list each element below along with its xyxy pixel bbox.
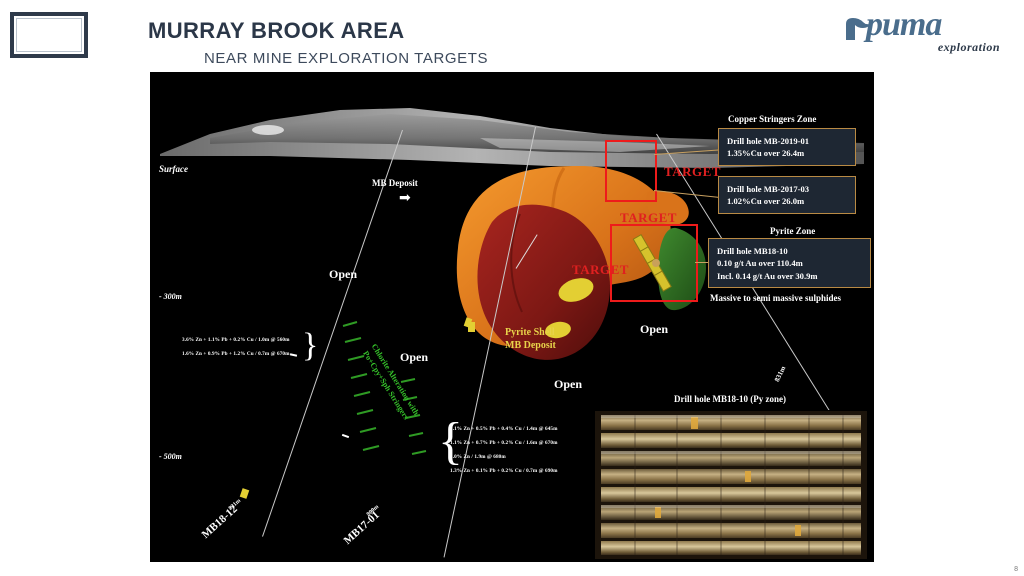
page-title: MURRAY BROOK AREA [148,18,488,44]
page-subtitle: NEAR MINE EXPLORATION TARGETS [204,50,488,67]
assay-line: 1.3% Zn + 0.1% Pb + 0.2% Cu / 0.7m @ 690… [450,468,558,474]
assay-brace-upper: } [302,327,318,365]
corner-placeholder-box [10,12,88,58]
callout-mb-2017-03: Drill hole MB-2017-03 1.02%Cu over 26.0m [718,176,856,214]
zone-label-pyrite: Pyrite Zone [770,226,815,236]
callout-mb-2019-01: Drill hole MB-2019-01 1.35%Cu over 26.4m [718,128,856,166]
open-label-4: Open [640,322,668,337]
callout-line-2: 1.35%Cu over 26.4m [727,147,847,159]
assay-block-upper: 3.6% Zn + 1.1% Pb + 0.2% Cu / 1.0m @ 560… [182,337,290,357]
open-label-2: Open [400,350,428,365]
core-photo-caption: Drill hole MB18-10 (Py zone) [594,394,866,404]
mb-deposit-label: MB Deposit [372,178,418,188]
assay-line: 1.0% Zn / 1.9m @ 680m [450,454,558,460]
pyrite-shell-sublabel: MB Deposit [505,340,556,351]
callout-line-1: Drill hole MB-2017-03 [727,183,847,195]
callout-line-1: Drill hole MB-2019-01 [727,135,847,147]
assay-line: 1.6% Zn + 0.9% Pb + 1.2% Cu / 0.7m @ 670… [182,351,290,357]
puma-logo: puma exploration [844,10,1004,58]
puma-logo-word: puma [866,6,941,44]
target-box-copper [605,140,657,202]
open-label-3: Open [554,377,582,392]
cross-section-figure: Copper Stringers Zone Drill hole MB-2019… [150,72,874,562]
drillhole-label-mb18-12: MB18-12 [200,503,240,541]
assay-line: 1.1% Zn + 0.5% Pb + 0.4% Cu / 1.4m @ 645… [450,426,558,432]
callout-line-3: Incl. 0.14 g/t Au over 30.9m [717,270,862,282]
drillhole-label-mb17-01: MB17-01 [342,509,382,547]
hole-tick [290,353,297,356]
assay-line: 3.6% Zn + 1.1% Pb + 0.2% Cu / 1.0m @ 560… [182,337,290,343]
depth-label-300: - 300m [159,292,182,301]
sulphides-note: Massive to semi massive sulphides [710,293,841,303]
mb-deposit-arrow-icon: ➡ [399,190,411,204]
page-number: 8 [1014,566,1018,573]
depth-label-500: - 500m [159,452,182,461]
assay-block-lower: 1.1% Zn + 0.5% Pb + 0.4% Cu / 1.4m @ 645… [450,426,558,474]
callout-line-2: 0.10 g/t Au over 110.4m [717,257,862,269]
open-label-1: Open [329,267,357,282]
target-label-3: TARGET [572,262,629,278]
callout-line-2: 1.02%Cu over 26.0m [727,195,847,207]
callout-leader-line [695,262,709,263]
assay-line: 1.1% Zn + 0.7% Pb + 0.2% Cu / 1.6m @ 670… [450,440,558,446]
surface-label: Surface [159,164,188,174]
target-label-2: TARGET [620,210,677,226]
core-photo [594,410,868,560]
pyrite-shell-label: Pyrite Shell [505,327,555,338]
intercept-marker [468,322,475,332]
callout-mb18-10: Drill hole MB18-10 0.10 g/t Au over 110.… [708,238,871,288]
intercept-marker [240,488,250,499]
zone-label-copper-stringers: Copper Stringers Zone [728,114,816,124]
title-block: MURRAY BROOK AREA NEAR MINE EXPLORATION … [148,18,488,67]
callout-line-1: Drill hole MB18-10 [717,245,862,257]
puma-logo-subtitle: exploration [938,40,1000,55]
target-label-1: TARGET [664,164,721,180]
